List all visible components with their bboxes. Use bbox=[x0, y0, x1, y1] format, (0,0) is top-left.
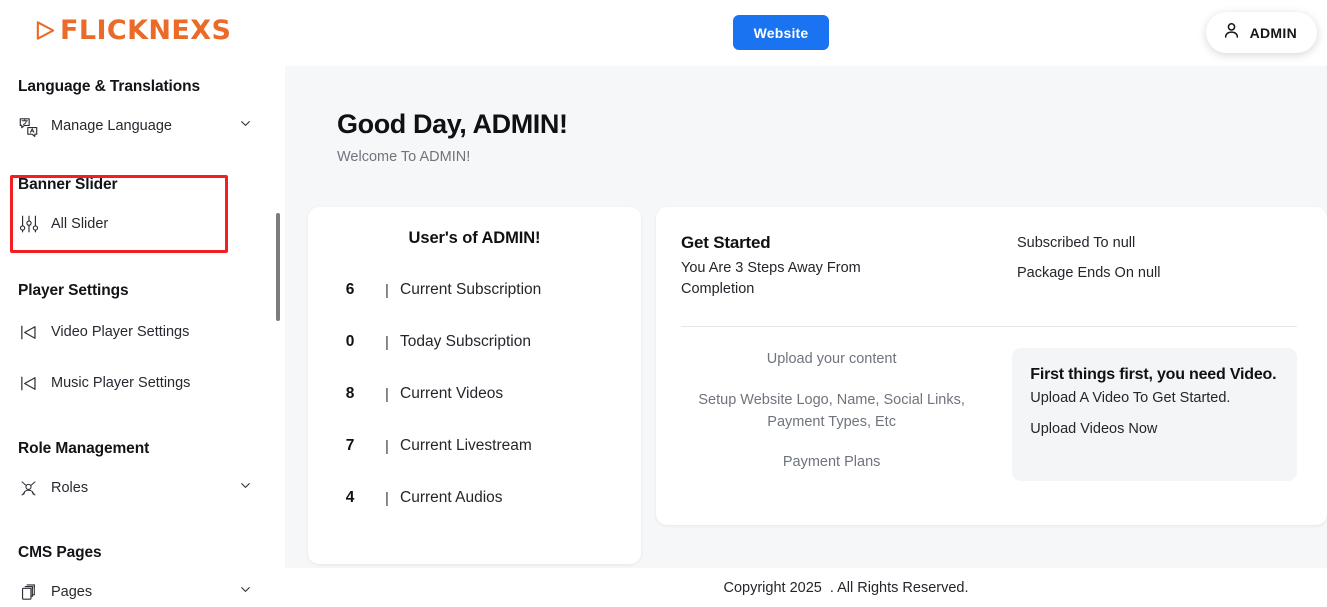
get-started-header: Get Started You Are 3 Steps Away From Co… bbox=[681, 233, 1297, 300]
users-card-title: User's of ADMIN! bbox=[326, 229, 623, 248]
sidebar-item-manage-language[interactable]: Manage Language bbox=[0, 107, 285, 145]
setup-step-payment-plans[interactable]: Payment Plans bbox=[681, 451, 982, 473]
stat-row: 7 | Current Livestream bbox=[326, 434, 623, 458]
sidebar-item-label: Manage Language bbox=[51, 118, 172, 134]
play-triangle-icon bbox=[34, 19, 57, 42]
stats-list: 6 | Current Subscription 0 | Today Subsc… bbox=[326, 278, 623, 510]
stat-label: Current Videos bbox=[400, 382, 503, 406]
sidebar-item-label: Video Player Settings bbox=[51, 324, 189, 340]
stat-value: 4 bbox=[326, 489, 374, 507]
stat-separator: | bbox=[374, 490, 400, 507]
setup-step-website-setup[interactable]: Setup Website Logo, Name, Social Links, … bbox=[681, 389, 982, 434]
stat-row: 0 | Today Subscription bbox=[326, 330, 623, 354]
sliders-icon bbox=[18, 212, 44, 236]
greeting-block: Good Day, ADMIN! Welcome To ADMIN! bbox=[337, 109, 568, 165]
stat-value: 7 bbox=[326, 437, 374, 455]
get-started-subtitle: You Are 3 Steps Away From Completion bbox=[681, 258, 901, 300]
sidebar-section-title-cms-pages: CMS Pages bbox=[0, 544, 285, 562]
stat-separator: | bbox=[374, 438, 400, 455]
chevron-down-icon[interactable] bbox=[239, 583, 252, 601]
top-header: FLICKNEXS Website ADMIN bbox=[0, 0, 1327, 66]
page-footer: Copyright 2025 . All Rights Reserved. bbox=[285, 568, 1327, 607]
stat-separator: | bbox=[374, 282, 400, 299]
pages-stack-icon bbox=[18, 580, 44, 604]
stat-separator: | bbox=[374, 334, 400, 351]
page-subtitle: Welcome To ADMIN! bbox=[337, 149, 568, 165]
setup-steps-list: Upload your content Setup Website Logo, … bbox=[681, 348, 988, 492]
sidebar-section-banner-slider: Banner Slider All Slider bbox=[0, 176, 285, 243]
sidebar-section-player-settings: Player Settings Video Player Settings bbox=[0, 282, 285, 402]
sidebar-section-language: Language & Translations Manage Language bbox=[0, 78, 285, 145]
sidebar-section-title-language: Language & Translations bbox=[0, 78, 285, 96]
sidebar-section-role-management: Role Management Roles bbox=[0, 440, 285, 507]
get-started-body: Upload your content Setup Website Logo, … bbox=[681, 348, 1297, 492]
copyright-text: Copyright 2025 . All Rights Reserved. bbox=[723, 580, 968, 596]
stat-value: 0 bbox=[326, 333, 374, 351]
setup-step-upload-content[interactable]: Upload your content bbox=[681, 348, 982, 370]
page-title: Good Day, ADMIN! bbox=[337, 109, 568, 140]
sidebar-item-all-slider[interactable]: All Slider bbox=[0, 205, 285, 243]
upload-video-promo-panel: First things first, you need Video. Uplo… bbox=[1012, 348, 1297, 481]
get-started-card: Get Started You Are 3 Steps Away From Co… bbox=[656, 207, 1327, 525]
chevron-down-icon[interactable] bbox=[239, 117, 252, 135]
sidebar-item-label: Roles bbox=[51, 480, 88, 496]
promo-subtitle: Upload A Video To Get Started. bbox=[1030, 390, 1279, 406]
stat-row: 4 | Current Audios bbox=[326, 486, 623, 510]
sidebar-scrollbar-thumb[interactable] bbox=[276, 213, 280, 321]
stat-row: 6 | Current Subscription bbox=[326, 278, 623, 302]
stat-label: Current Audios bbox=[400, 486, 503, 510]
sidebar-item-label: Pages bbox=[51, 584, 92, 600]
stat-row: 8 | Current Videos bbox=[326, 382, 623, 406]
dashboard-cards-row: User's of ADMIN! 6 | Current Subscriptio… bbox=[308, 207, 1327, 564]
sidebar-item-video-player-settings[interactable]: Video Player Settings bbox=[0, 313, 285, 351]
sidebar-section-title-banner-slider: Banner Slider bbox=[0, 176, 285, 194]
admin-account-menu[interactable]: ADMIN bbox=[1206, 12, 1317, 53]
admin-label: ADMIN bbox=[1250, 25, 1297, 41]
admin-dashboard: FLICKNEXS Website ADMIN Language & Trans… bbox=[0, 0, 1327, 607]
upload-videos-now-link[interactable]: Upload Videos Now bbox=[1030, 421, 1279, 437]
sidebar-item-roles[interactable]: Roles bbox=[0, 469, 285, 507]
stat-value: 6 bbox=[326, 281, 374, 299]
sidebar-item-pages[interactable]: Pages bbox=[0, 573, 285, 607]
translate-icon bbox=[18, 114, 44, 138]
sidebar-section-title-player-settings: Player Settings bbox=[0, 282, 285, 300]
stat-label: Current Subscription bbox=[400, 278, 541, 302]
stat-label: Current Livestream bbox=[400, 434, 532, 458]
main-content: Good Day, ADMIN! Welcome To ADMIN! User'… bbox=[285, 66, 1327, 568]
user-person-icon bbox=[1222, 21, 1241, 45]
divider bbox=[681, 326, 1297, 327]
sidebar-section-cms-pages: CMS Pages Pages bbox=[0, 544, 285, 607]
skip-back-icon bbox=[18, 371, 44, 395]
stat-label: Today Subscription bbox=[400, 330, 531, 354]
package-ends-text: Package Ends On null bbox=[1017, 265, 1160, 281]
users-stats-card: User's of ADMIN! 6 | Current Subscriptio… bbox=[308, 207, 641, 564]
sidebar-scrollbar-track[interactable] bbox=[275, 66, 280, 607]
brand-name: FLICKNEXS bbox=[60, 15, 231, 46]
subscription-info: Subscribed To null Package Ends On null bbox=[1017, 233, 1160, 300]
sidebar-item-label: Music Player Settings bbox=[51, 375, 190, 391]
sidebar-item-label: All Slider bbox=[51, 216, 108, 232]
chevron-down-icon[interactable] bbox=[239, 479, 252, 497]
stat-value: 8 bbox=[326, 385, 374, 403]
promo-title: First things first, you need Video. bbox=[1030, 365, 1279, 385]
get-started-title: Get Started bbox=[681, 233, 991, 253]
sidebar-section-title-role-management: Role Management bbox=[0, 440, 285, 458]
brand-logo[interactable]: FLICKNEXS bbox=[34, 15, 231, 46]
website-button[interactable]: Website bbox=[733, 15, 829, 50]
stat-separator: | bbox=[374, 386, 400, 403]
subscribed-to-text: Subscribed To null bbox=[1017, 235, 1160, 251]
roles-user-icon bbox=[18, 476, 44, 500]
sidebar-item-music-player-settings[interactable]: Music Player Settings bbox=[0, 364, 285, 402]
skip-back-icon bbox=[18, 320, 44, 344]
sidebar-nav: Language & Translations Manage Language bbox=[0, 66, 285, 607]
get-started-intro: Get Started You Are 3 Steps Away From Co… bbox=[681, 233, 991, 300]
